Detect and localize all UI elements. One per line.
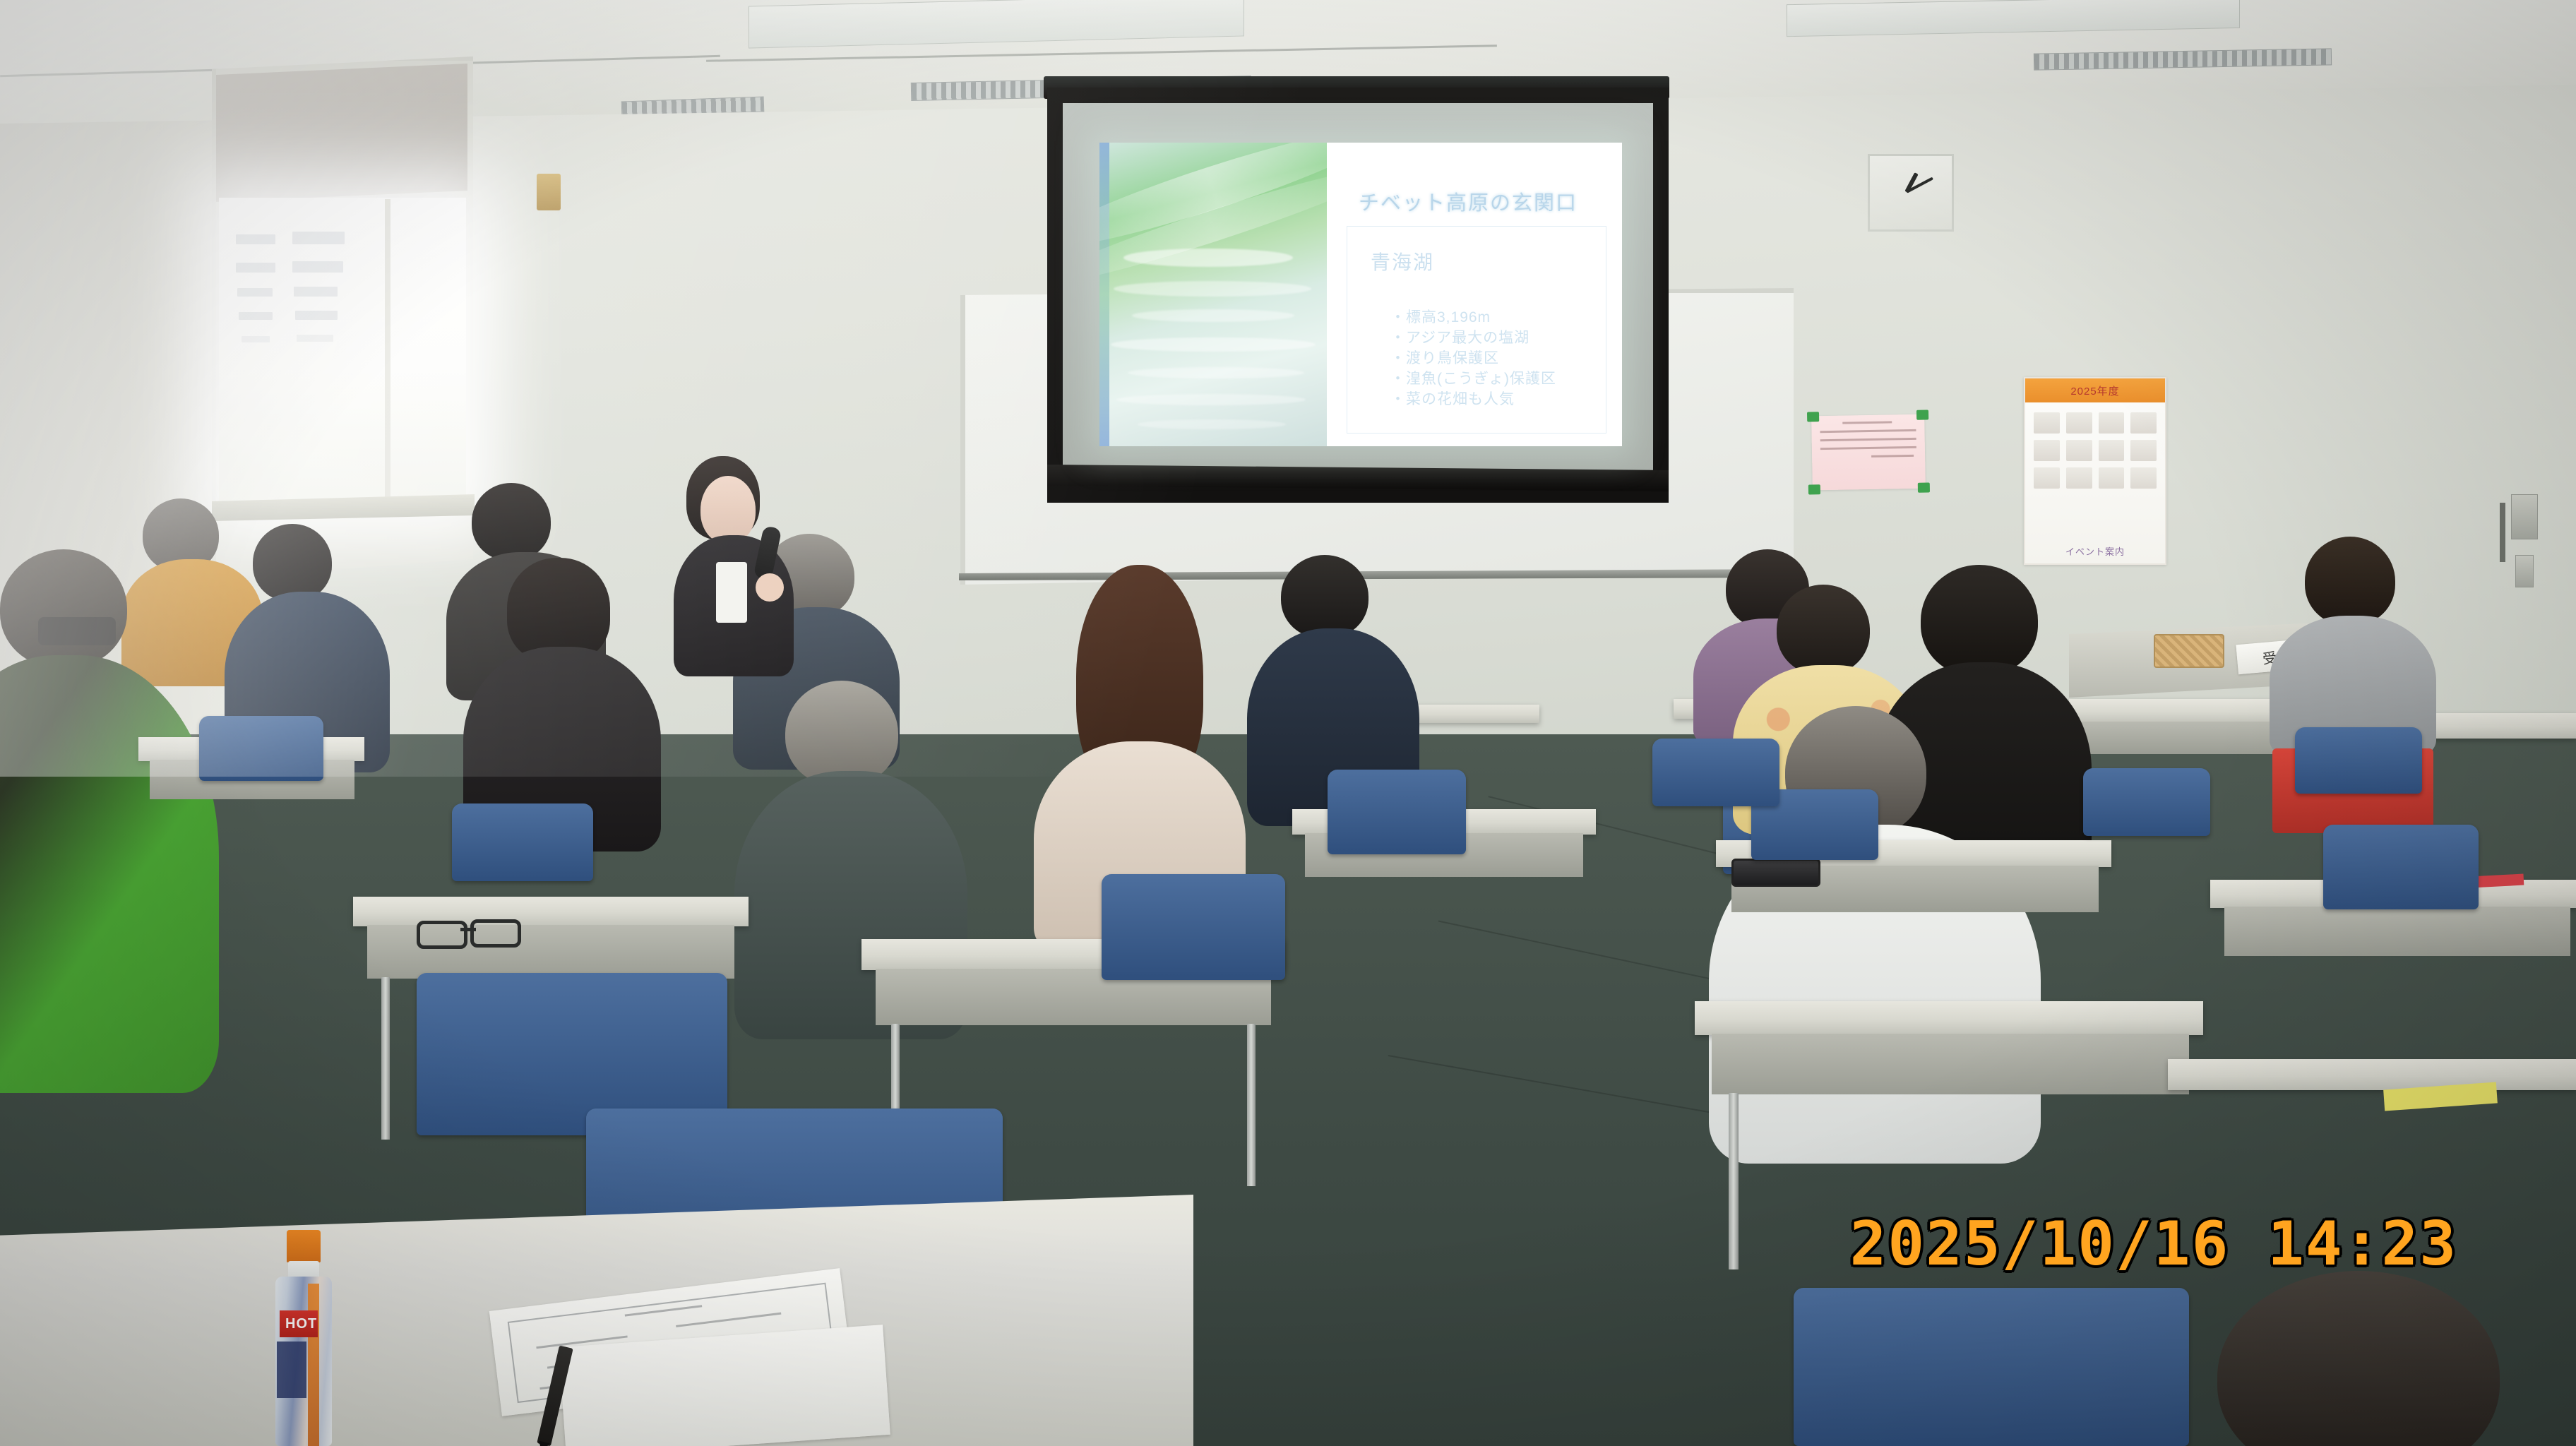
attendee-head — [1777, 585, 1870, 675]
camera-timestamp: 2025/10/16 14:23 — [1850, 1209, 2457, 1279]
wall-cable — [2500, 503, 2505, 562]
poster-footer: イベント案内 — [2025, 544, 2165, 558]
wall-poster: 2025年度 イベント案内 — [2024, 377, 2166, 565]
attendee-head — [253, 524, 332, 602]
ceiling-light-panel — [749, 0, 1244, 49]
reception-basket — [2154, 634, 2224, 668]
bottle-body: HOT — [275, 1277, 332, 1446]
wall-notice — [1811, 414, 1926, 491]
attendee-head — [472, 483, 551, 561]
attendee-head — [0, 549, 127, 668]
desk-leg — [1729, 1093, 1739, 1269]
lecture-room-photo: チベット高原の玄関口 青海湖 標高3,196m アジア最大の塩湖 渡り鳥保護区 … — [0, 0, 2576, 1446]
chair — [2323, 825, 2479, 909]
presenter-blouse — [716, 562, 747, 623]
chair — [1328, 770, 1466, 854]
desk — [2168, 1059, 2576, 1090]
chair — [2295, 727, 2422, 794]
chair — [2083, 768, 2210, 836]
poster-image-grid — [2025, 402, 2165, 498]
poster-header: 2025年度 — [2025, 378, 2165, 402]
slide-subject: 青海湖 — [1371, 247, 1434, 275]
desk-panel — [1712, 1034, 2189, 1094]
wall-speaker — [537, 174, 561, 210]
slide-title: チベット高原の玄関口 — [1327, 186, 1609, 216]
drink-bottle[interactable]: HOT — [274, 1230, 333, 1446]
slide-bullet: 渡り鳥保護区 — [1390, 349, 1608, 369]
eyeglasses — [38, 617, 116, 645]
slide-bullet: 標高3,196m — [1390, 308, 1608, 328]
eyeglasses-on-desk — [417, 919, 537, 945]
desk — [1695, 1001, 2203, 1035]
projected-slide: チベット高原の玄関口 青海湖 標高3,196m アジア最大の塩湖 渡り鳥保護区 … — [1099, 143, 1622, 446]
bottle-label-panel — [277, 1342, 306, 1398]
attendee-head — [1921, 565, 2038, 676]
presenter-hand — [756, 573, 784, 602]
chair — [1794, 1288, 2189, 1446]
chair — [1652, 739, 1779, 806]
wall-clock — [1868, 154, 1954, 232]
window-blind-valance — [216, 64, 467, 205]
ceiling-light-panel — [1787, 0, 2240, 37]
wall-intercom[interactable] — [2511, 494, 2538, 539]
chair — [452, 803, 593, 881]
presenter-head — [700, 476, 756, 544]
slide-bullet: アジア最大の塩湖 — [1390, 328, 1608, 349]
ceiling-seam — [706, 44, 1497, 62]
desk — [353, 897, 749, 926]
desk-leg — [381, 977, 390, 1140]
attendee-head — [1281, 555, 1368, 638]
slide-bullet: 湟魚(こうぎょ)保護区 — [1390, 369, 1608, 390]
bottle-label-stripe — [308, 1284, 319, 1446]
window-glass — [219, 198, 466, 508]
slide-map-edge — [1099, 143, 1109, 446]
window-mullion — [385, 199, 390, 503]
desk-leg — [1247, 1024, 1256, 1186]
slide-satellite-map-image — [1099, 143, 1327, 446]
slide-bullet: 菜の花畑も人気 — [1390, 390, 1608, 410]
bottle-hot-label: HOT — [285, 1316, 317, 1332]
bottle-cap — [287, 1230, 321, 1262]
slide-text-panel: チベット高原の玄関口 青海湖 標高3,196m アジア最大の塩湖 渡り鳥保護区 … — [1327, 143, 1622, 446]
desk-panel — [2224, 907, 2570, 956]
wall-switch-panel[interactable] — [2515, 555, 2534, 587]
chair — [199, 716, 323, 781]
slide-bullet-list: 標高3,196m アジア最大の塩湖 渡り鳥保護区 湟魚(こうぎょ)保護区 菜の花… — [1362, 308, 1608, 410]
chair — [1102, 874, 1285, 980]
smartphone[interactable] — [1731, 859, 1820, 887]
ceiling-vent — [2034, 48, 2332, 70]
attendee-head — [2305, 537, 2395, 626]
